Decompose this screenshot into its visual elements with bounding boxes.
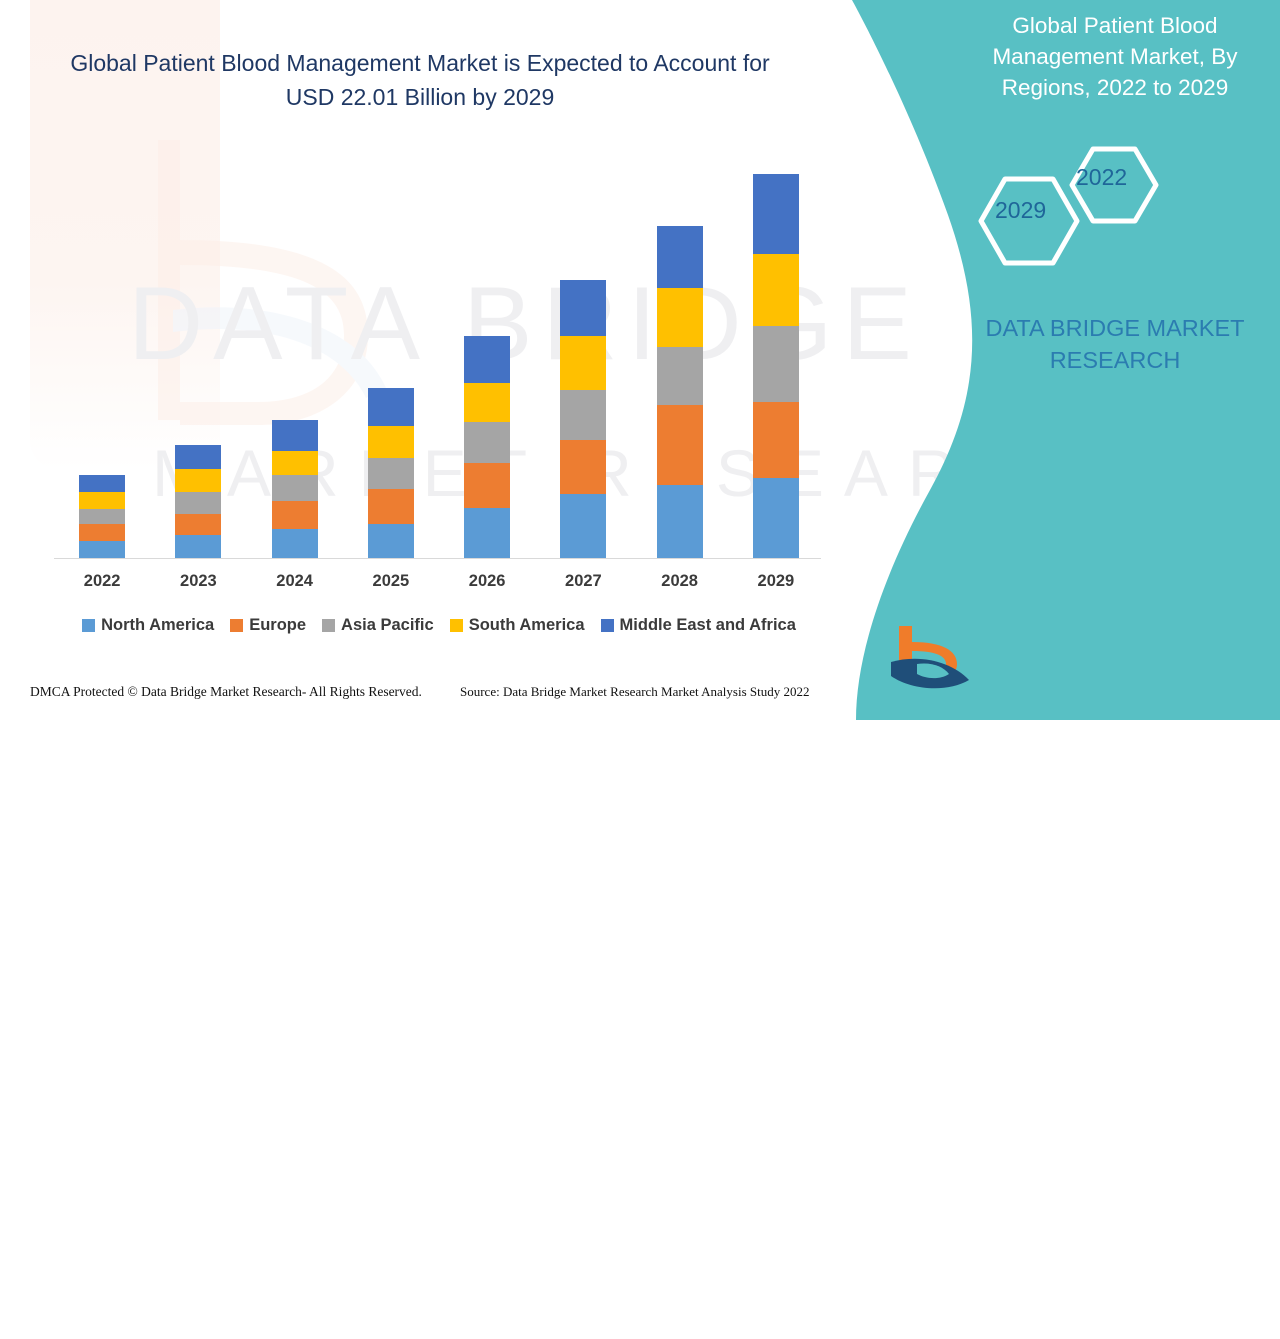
bar-group: [535, 150, 631, 559]
legend-label: North America: [101, 616, 214, 635]
bar-segment: [560, 336, 606, 390]
bar-segment: [560, 494, 606, 559]
bar-segment: [175, 445, 221, 469]
legend-swatch-icon: [322, 619, 335, 632]
stacked-bar: [657, 226, 703, 559]
legend-swatch-icon: [82, 619, 95, 632]
panel-heading: Global Patient Blood Management Market, …: [960, 10, 1270, 103]
legend-item[interactable]: Middle East and Africa: [601, 616, 796, 635]
bar-segment: [175, 514, 221, 536]
bar-segment: [79, 541, 125, 559]
bar-segment: [368, 524, 414, 559]
bar-segment: [657, 288, 703, 347]
bar-segment: [753, 402, 799, 478]
bar-segment: [79, 524, 125, 541]
bar-segment: [753, 174, 799, 254]
stacked-bar: [560, 280, 606, 559]
bar-segment: [175, 469, 221, 493]
bar-segment: [79, 475, 125, 492]
bar-group: [632, 150, 728, 559]
bar-segment: [560, 390, 606, 440]
legend-item[interactable]: North America: [82, 616, 214, 635]
bar-segment: [753, 478, 799, 559]
bar-group: [54, 150, 150, 559]
legend-label: South America: [469, 616, 585, 635]
footer-copyright: DMCA Protected © Data Bridge Market Rese…: [30, 684, 422, 700]
x-axis-tick-label: 2029: [728, 572, 824, 591]
stacked-bar: [368, 388, 414, 559]
logo-mark-icon: [885, 620, 985, 695]
hexagon-label-start-year: 2029: [995, 197, 1046, 224]
bar-segment: [79, 492, 125, 509]
bar-segment: [79, 509, 125, 523]
hexagon-badges: 2029 2022: [975, 145, 1175, 275]
stacked-bar: [79, 475, 125, 559]
footer-source: Source: Data Bridge Market Research Mark…: [460, 684, 809, 700]
bar-segment: [657, 485, 703, 559]
legend-swatch-icon: [450, 619, 463, 632]
bar-segment: [464, 422, 510, 463]
legend-item[interactable]: South America: [450, 616, 585, 635]
x-axis-labels: 20222023202420252026202720282029: [54, 572, 824, 591]
bar-segment: [753, 254, 799, 325]
stacked-bar: [753, 174, 799, 559]
bar-segment: [272, 475, 318, 501]
x-axis-line: [54, 558, 821, 559]
bar-segment: [368, 388, 414, 426]
bar-group: [728, 150, 824, 559]
bar-segment: [368, 426, 414, 458]
bar-group: [343, 150, 439, 559]
infographic-canvas: DATA BRIDGE MARKET RESEARCH Global Patie…: [0, 0, 1280, 720]
data-bridge-logo: DATA BRIDGE MARKET RESEARCH: [885, 620, 1115, 695]
bar-segment: [464, 383, 510, 423]
stacked-bar: [175, 445, 221, 559]
bar-segment: [464, 463, 510, 508]
x-axis-tick-label: 2024: [247, 572, 343, 591]
bar-segment: [175, 492, 221, 514]
bar-segment: [464, 508, 510, 559]
bar-segment: [272, 501, 318, 529]
x-axis-tick-label: 2028: [632, 572, 728, 591]
legend-swatch-icon: [230, 619, 243, 632]
x-axis-tick-label: 2023: [150, 572, 246, 591]
x-axis-tick-label: 2027: [535, 572, 631, 591]
bar-segment: [368, 489, 414, 523]
bar-segment: [560, 280, 606, 335]
bar-group: [439, 150, 535, 559]
chart-title: Global Patient Blood Management Market i…: [60, 46, 780, 114]
bar-group: [247, 150, 343, 559]
chart-legend: North AmericaEuropeAsia PacificSouth Ame…: [54, 616, 824, 635]
legend-item[interactable]: Asia Pacific: [322, 616, 434, 635]
bar-segment: [272, 420, 318, 452]
x-axis-tick-label: 2022: [54, 572, 150, 591]
hexagon-label-end-year: 2022: [1076, 164, 1127, 191]
legend-item[interactable]: Europe: [230, 616, 306, 635]
bar-group: [150, 150, 246, 559]
bar-segment: [657, 347, 703, 405]
stacked-bar: [464, 336, 510, 559]
bar-segment: [272, 529, 318, 559]
x-axis-tick-label: 2026: [439, 572, 535, 591]
bar-segment: [753, 326, 799, 402]
legend-label: Middle East and Africa: [620, 616, 796, 635]
bar-segment: [464, 336, 510, 382]
bar-segment: [657, 405, 703, 485]
stacked-bar-chart: [54, 150, 824, 559]
legend-label: Europe: [249, 616, 306, 635]
bar-segment: [560, 440, 606, 494]
stacked-bar: [272, 420, 318, 559]
bar-segment: [272, 451, 318, 475]
legend-label: Asia Pacific: [341, 616, 434, 635]
x-axis-tick-label: 2025: [343, 572, 439, 591]
bar-segment: [175, 535, 221, 559]
legend-swatch-icon: [601, 619, 614, 632]
panel-brand-line: DATA BRIDGE MARKET RESEARCH: [960, 312, 1270, 376]
bar-segment: [368, 458, 414, 490]
bar-segment: [657, 226, 703, 288]
